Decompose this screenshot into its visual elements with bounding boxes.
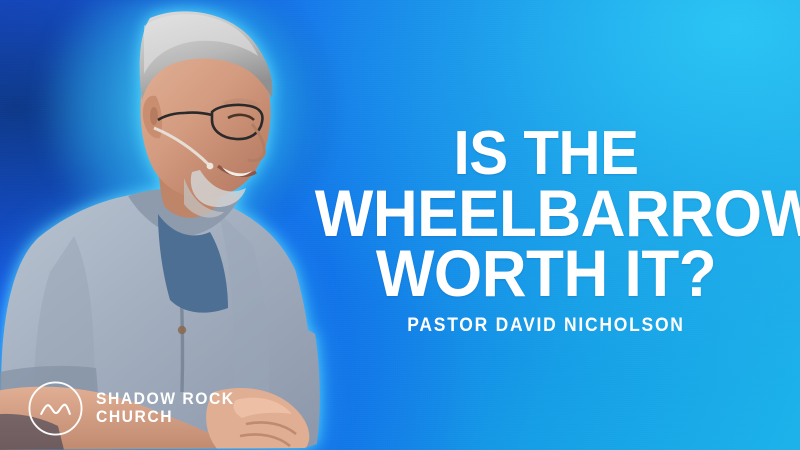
title-line-1: IS THE xyxy=(315,126,777,183)
sermon-title-card: IS THE WHEELBARROW WORTH IT? PASTOR DAVI… xyxy=(0,0,800,450)
church-logo: SHADOW ROCK CHURCH xyxy=(26,379,242,438)
speaker-subtitle: PASTOR DAVID NICHOLSON xyxy=(320,315,773,337)
church-name-line-2: CHURCH xyxy=(96,409,235,426)
mountain-in-circle-icon xyxy=(26,379,85,438)
church-logo-text: SHADOW ROCK CHURCH xyxy=(96,391,235,426)
title-line-2: WHEELBARROW xyxy=(315,183,777,243)
title-block: IS THE WHEELBARROW WORTH IT? PASTOR DAVI… xyxy=(300,126,792,337)
church-name-line-1: SHADOW ROCK xyxy=(96,391,235,408)
title-line-3: WORTH IT? xyxy=(315,243,777,303)
